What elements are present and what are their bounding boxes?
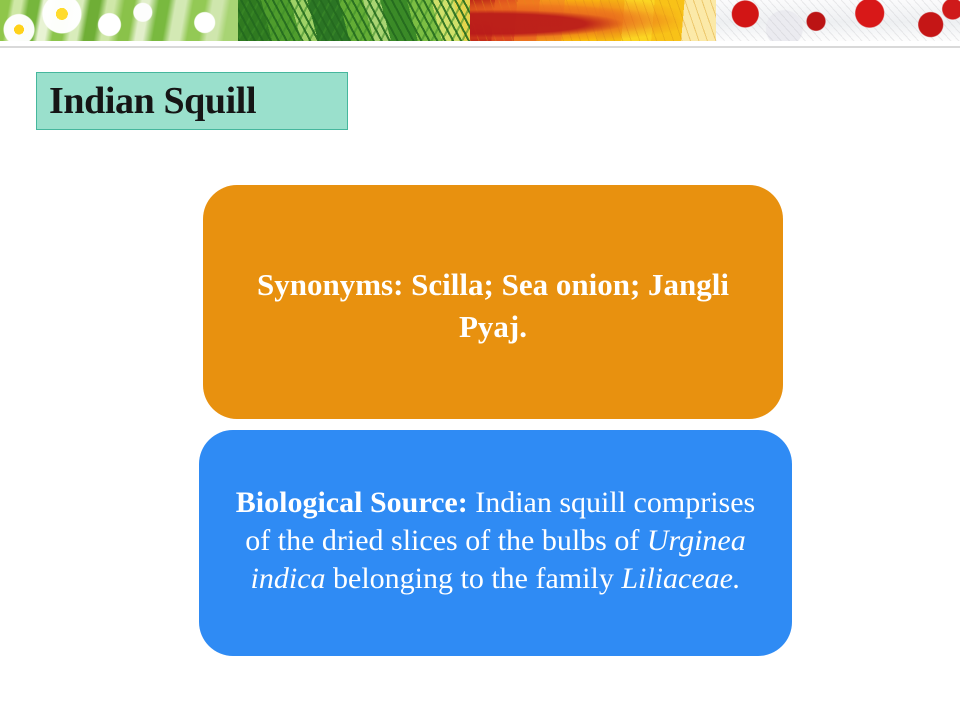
biological-source-label: Biological Source: [236, 486, 468, 519]
winter-berries-panel [716, 0, 960, 41]
header-divider [0, 46, 960, 48]
synonyms-text: Synonyms: Scilla; Sea onion; Jangli Pyaj… [229, 264, 757, 348]
seasonal-banner [0, 0, 960, 41]
summer-palm-panel [238, 0, 470, 41]
autumn-leaves-panel [470, 0, 716, 41]
spring-daisies-panel [0, 0, 238, 41]
page-title: Indian Squill [37, 82, 256, 120]
biological-source-body-2: belonging to the family [326, 562, 622, 595]
biological-source-text: Biological Source: Indian squill compris… [221, 484, 770, 598]
family-name: Liliaceae. [621, 562, 740, 595]
slide-title-chip: Indian Squill [36, 72, 348, 130]
biological-source-card: Biological Source: Indian squill compris… [199, 430, 792, 656]
synonyms-card: Synonyms: Scilla; Sea onion; Jangli Pyaj… [203, 185, 783, 419]
